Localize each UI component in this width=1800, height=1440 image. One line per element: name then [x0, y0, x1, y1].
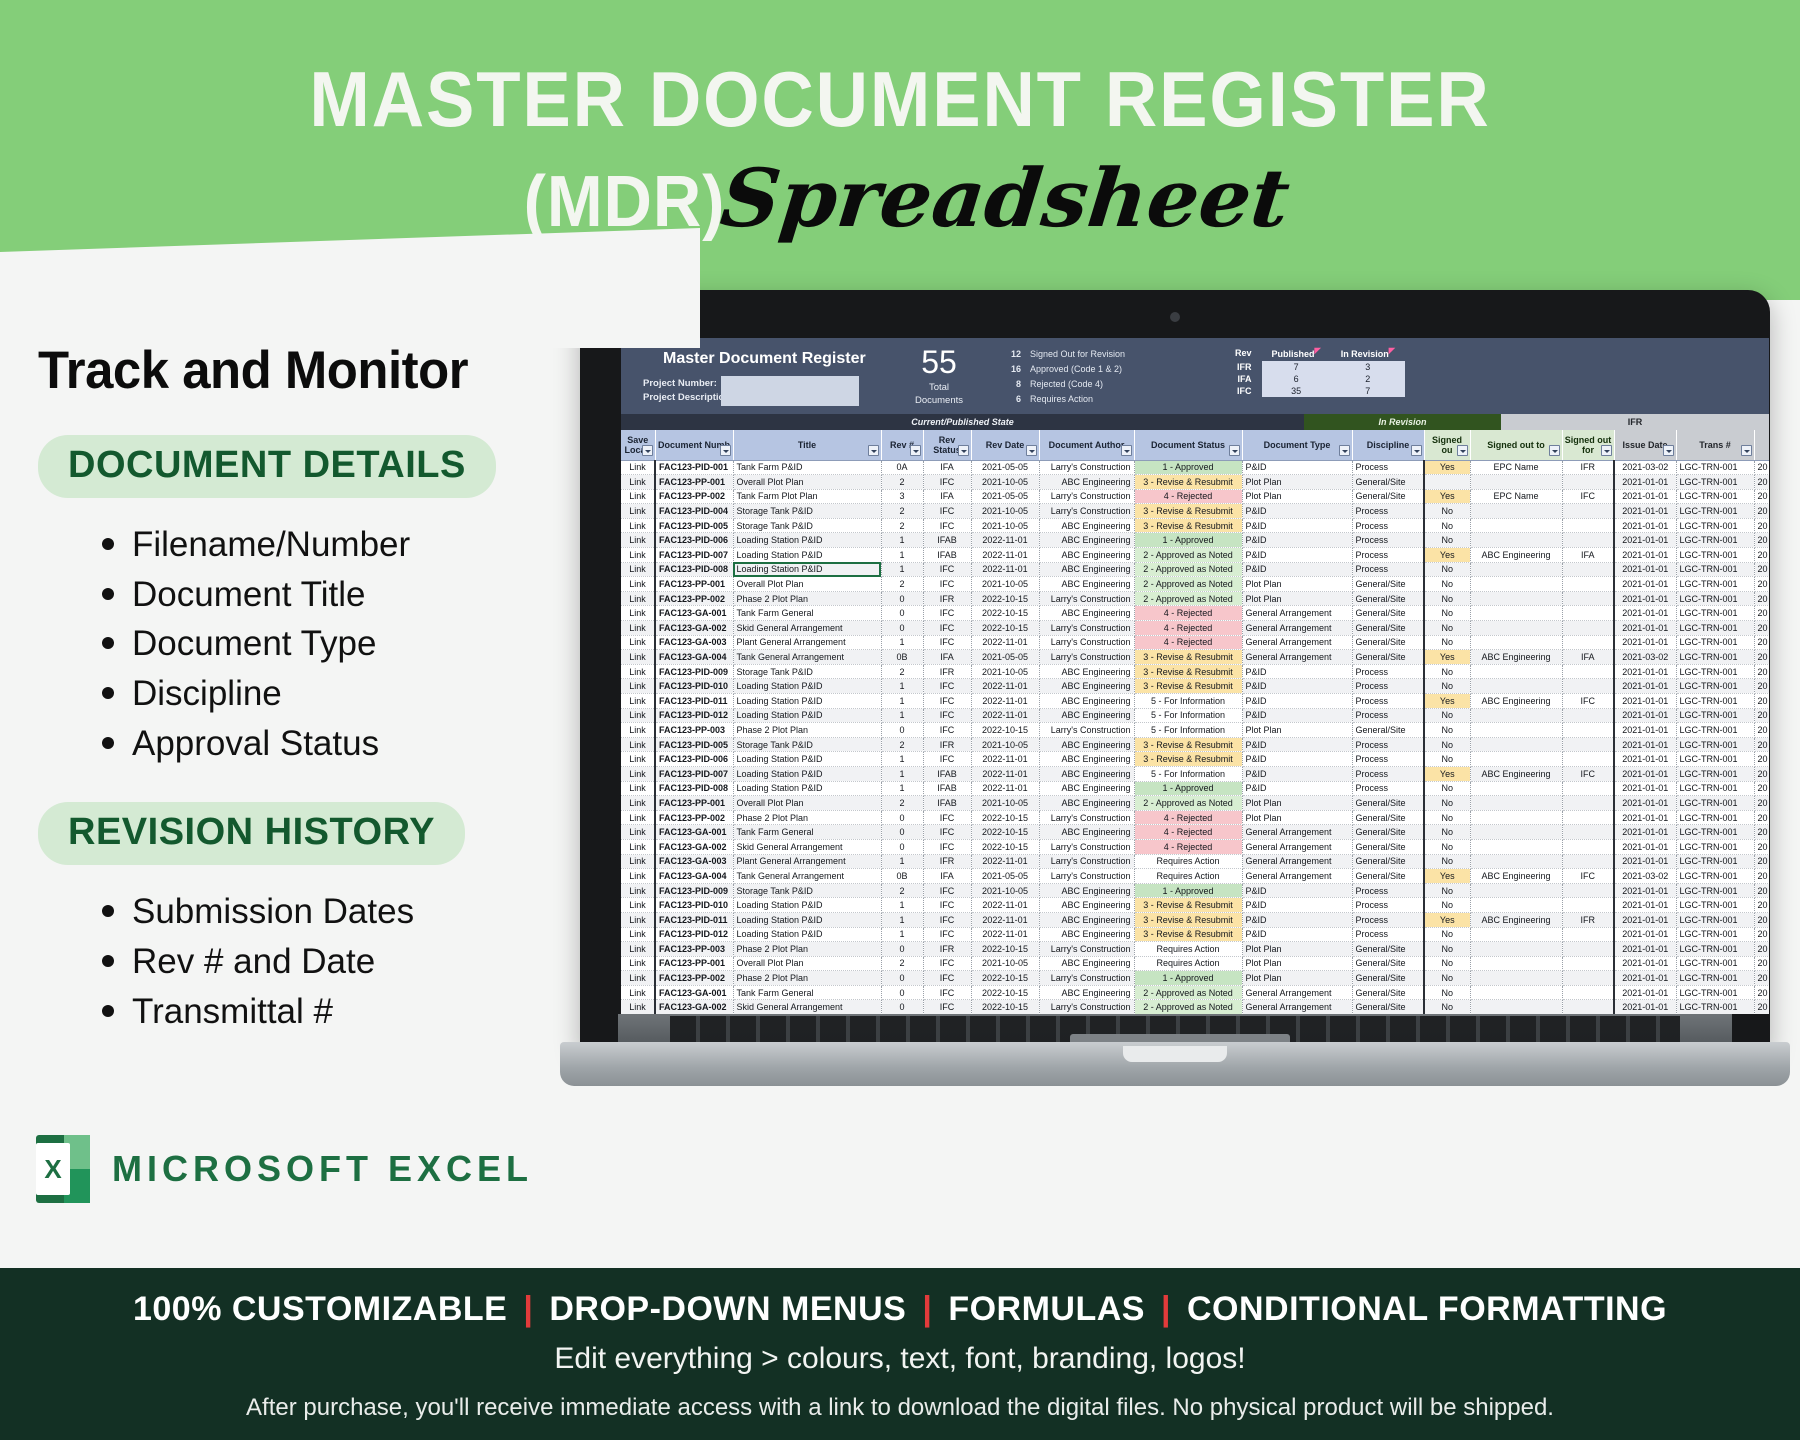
cell-overflow[interactable]: 20 [1754, 606, 1769, 621]
cell-document-status[interactable]: 3 - Revise & Resubmit [1134, 650, 1242, 665]
cell-trans-number[interactable]: LGC-TRN-001 [1676, 927, 1754, 942]
cell-rev-number[interactable]: 1 [881, 679, 923, 694]
cell-title[interactable]: Plant General Arrangement [733, 635, 881, 650]
cell-rev-number[interactable]: 0 [881, 591, 923, 606]
cell-signed-out-for[interactable] [1562, 927, 1614, 942]
cell-rev-date[interactable]: 2022-11-01 [971, 766, 1039, 781]
cell-issue-date[interactable]: 2021-01-01 [1614, 825, 1676, 840]
cell-document-author[interactable]: Larry's Construction [1039, 635, 1134, 650]
cell-signed-out-to[interactable] [1470, 591, 1562, 606]
cell-title[interactable]: Loading Station P&ID [733, 708, 881, 723]
cell-document-author[interactable]: ABC Engineering [1039, 927, 1134, 942]
table-row[interactable]: LinkFAC123-GA-002Skid General Arrangemen… [621, 839, 1769, 854]
cell-discipline[interactable]: Process [1352, 737, 1424, 752]
cell-signed-out[interactable]: No [1424, 679, 1470, 694]
cell-rev-status[interactable]: IFR [923, 854, 971, 869]
cell-overflow[interactable]: 20 [1754, 694, 1769, 709]
cell-rev-status[interactable]: IFC [923, 956, 971, 971]
cell-document-type[interactable]: P&ID [1242, 518, 1352, 533]
cell-trans-number[interactable]: LGC-TRN-001 [1676, 898, 1754, 913]
cell-signed-out-to[interactable] [1470, 796, 1562, 811]
table-row[interactable]: LinkFAC123-PP-001Overall Plot Plan2IFC20… [621, 577, 1769, 592]
cell-rev-date[interactable]: 2022-11-01 [971, 708, 1039, 723]
cell-signed-out-for[interactable] [1562, 621, 1614, 636]
cell-signed-out-to[interactable] [1470, 475, 1562, 490]
cell-document-status[interactable]: 4 - Rejected [1134, 810, 1242, 825]
cell-overflow[interactable]: 20 [1754, 562, 1769, 577]
cell-rev-status[interactable]: IFR [923, 591, 971, 606]
cell-rev-date[interactable]: 2022-10-15 [971, 825, 1039, 840]
cell-discipline[interactable]: General/Site [1352, 971, 1424, 986]
cell-trans-number[interactable]: LGC-TRN-001 [1676, 635, 1754, 650]
cell-document-author[interactable]: ABC Engineering [1039, 533, 1134, 548]
cell-issue-date[interactable]: 2021-01-01 [1614, 621, 1676, 636]
cell-discipline[interactable]: General/Site [1352, 591, 1424, 606]
cell-signed-out-for[interactable] [1562, 533, 1614, 548]
document-register-table[interactable]: Save Locati Document Numb Title Rev # Re… [621, 430, 1769, 1014]
cell-signed-out-to[interactable] [1470, 562, 1562, 577]
cell-document-type[interactable]: P&ID [1242, 664, 1352, 679]
cell-trans-number[interactable]: LGC-TRN-001 [1676, 825, 1754, 840]
cell-signed-out[interactable]: No [1424, 971, 1470, 986]
cell-document-type[interactable]: General Arrangement [1242, 650, 1352, 665]
cell-rev-number[interactable]: 0 [881, 942, 923, 957]
cell-rev-status[interactable]: IFA [923, 460, 971, 475]
cell-save-location[interactable]: Link [621, 971, 655, 986]
cell-rev-number[interactable]: 2 [881, 518, 923, 533]
cell-issue-date[interactable]: 2021-01-01 [1614, 548, 1676, 563]
cell-document-type[interactable]: P&ID [1242, 927, 1352, 942]
cell-document-status[interactable]: 4 - Rejected [1134, 635, 1242, 650]
cell-save-location[interactable]: Link [621, 664, 655, 679]
cell-signed-out[interactable]: No [1424, 839, 1470, 854]
cell-rev-date[interactable]: 2022-10-15 [971, 606, 1039, 621]
cell-discipline[interactable]: Process [1352, 927, 1424, 942]
table-row[interactable]: LinkFAC123-PP-003Phase 2 Plot Plan0IFR20… [621, 942, 1769, 957]
cell-rev-number[interactable]: 1 [881, 766, 923, 781]
cell-rev-status[interactable]: IFC [923, 912, 971, 927]
cell-signed-out-for[interactable] [1562, 606, 1614, 621]
cell-save-location[interactable]: Link [621, 927, 655, 942]
cell-rev-date[interactable]: 2021-05-05 [971, 460, 1039, 475]
table-row[interactable]: LinkFAC123-GA-004Tank General Arrangemen… [621, 869, 1769, 884]
cell-document-status[interactable]: 2 - Approved as Noted [1134, 548, 1242, 563]
cell-signed-out-to[interactable] [1470, 635, 1562, 650]
cell-overflow[interactable]: 20 [1754, 518, 1769, 533]
cell-document-author[interactable]: ABC Engineering [1039, 985, 1134, 1000]
cell-title[interactable]: Loading Station P&ID [733, 679, 881, 694]
cell-document-status[interactable]: 3 - Revise & Resubmit [1134, 927, 1242, 942]
cell-document-author[interactable]: Larry's Construction [1039, 942, 1134, 957]
cell-discipline[interactable]: General/Site [1352, 942, 1424, 957]
cell-document-status[interactable]: 2 - Approved as Noted [1134, 591, 1242, 606]
cell-signed-out-for[interactable]: IFR [1562, 460, 1614, 475]
cell-overflow[interactable]: 20 [1754, 621, 1769, 636]
filter-dropdown-icon[interactable] [720, 445, 731, 456]
cell-document-author[interactable]: Larry's Construction [1039, 839, 1134, 854]
cell-document-status[interactable]: 2 - Approved as Noted [1134, 1000, 1242, 1014]
cell-rev-date[interactable]: 2022-10-15 [971, 942, 1039, 957]
cell-title[interactable]: Tank General Arrangement [733, 869, 881, 884]
cell-rev-number[interactable]: 0 [881, 839, 923, 854]
cell-discipline[interactable]: General/Site [1352, 985, 1424, 1000]
cell-document-author[interactable]: ABC Engineering [1039, 475, 1134, 490]
cell-rev-date[interactable]: 2022-11-01 [971, 898, 1039, 913]
cell-signed-out[interactable]: No [1424, 898, 1470, 913]
cell-overflow[interactable]: 20 [1754, 912, 1769, 927]
cell-document-status[interactable]: 3 - Revise & Resubmit [1134, 737, 1242, 752]
cell-trans-number[interactable]: LGC-TRN-001 [1676, 781, 1754, 796]
cell-issue-date[interactable]: 2021-01-01 [1614, 533, 1676, 548]
cell-rev-date[interactable]: 2022-11-01 [971, 912, 1039, 927]
cell-rev-status[interactable]: IFR [923, 737, 971, 752]
column-header-rev-date[interactable]: Rev Date [971, 430, 1039, 460]
cell-document-author[interactable]: ABC Engineering [1039, 708, 1134, 723]
cell-overflow[interactable]: 20 [1754, 664, 1769, 679]
table-row[interactable]: LinkFAC123-PID-008Loading Station P&ID1I… [621, 562, 1769, 577]
cell-signed-out-to[interactable] [1470, 723, 1562, 738]
cell-document-author[interactable]: ABC Engineering [1039, 737, 1134, 752]
table-row[interactable]: LinkFAC123-PP-001Overall Plot Plan2IFC20… [621, 475, 1769, 490]
cell-save-location[interactable]: Link [621, 577, 655, 592]
cell-trans-number[interactable]: LGC-TRN-001 [1676, 723, 1754, 738]
cell-overflow[interactable]: 20 [1754, 708, 1769, 723]
cell-discipline[interactable]: General/Site [1352, 825, 1424, 840]
cell-save-location[interactable]: Link [621, 810, 655, 825]
cell-trans-number[interactable]: LGC-TRN-001 [1676, 621, 1754, 636]
cell-signed-out-to[interactable] [1470, 883, 1562, 898]
cell-discipline[interactable]: Process [1352, 781, 1424, 796]
cell-document-status[interactable]: 2 - Approved as Noted [1134, 577, 1242, 592]
cell-save-location[interactable]: Link [621, 766, 655, 781]
cell-rev-status[interactable]: IFC [923, 635, 971, 650]
cell-trans-number[interactable]: LGC-TRN-001 [1676, 591, 1754, 606]
cell-document-type[interactable]: Plot Plan [1242, 489, 1352, 504]
cell-rev-number[interactable]: 1 [881, 854, 923, 869]
cell-trans-number[interactable]: LGC-TRN-001 [1676, 650, 1754, 665]
cell-discipline[interactable]: General/Site [1352, 650, 1424, 665]
cell-trans-number[interactable]: LGC-TRN-001 [1676, 854, 1754, 869]
cell-signed-out-for[interactable] [1562, 971, 1614, 986]
filter-dropdown-icon[interactable] [1026, 445, 1037, 456]
cell-document-status[interactable]: 5 - For Information [1134, 723, 1242, 738]
cell-save-location[interactable]: Link [621, 708, 655, 723]
cell-document-number[interactable]: FAC123-PID-010 [655, 898, 733, 913]
cell-signed-out-for[interactable] [1562, 956, 1614, 971]
cell-rev-status[interactable]: IFC [923, 839, 971, 854]
cell-document-author[interactable]: Larry's Construction [1039, 504, 1134, 519]
filter-dropdown-icon[interactable] [1663, 445, 1674, 456]
cell-signed-out-for[interactable]: IFR [1562, 912, 1614, 927]
cell-trans-number[interactable]: LGC-TRN-001 [1676, 548, 1754, 563]
cell-discipline[interactable]: Process [1352, 912, 1424, 927]
cell-signed-out[interactable]: No [1424, 796, 1470, 811]
cell-discipline[interactable]: General/Site [1352, 577, 1424, 592]
cell-document-status[interactable]: 4 - Rejected [1134, 825, 1242, 840]
cell-rev-number[interactable]: 0 [881, 723, 923, 738]
cell-trans-number[interactable]: LGC-TRN-001 [1676, 985, 1754, 1000]
cell-issue-date[interactable]: 2021-03-02 [1614, 869, 1676, 884]
column-header-title[interactable]: Title [733, 430, 881, 460]
cell-document-status[interactable]: 2 - Approved as Noted [1134, 562, 1242, 577]
table-body[interactable]: LinkFAC123-PID-001Tank Farm P&ID0AIFA202… [621, 460, 1769, 1014]
cell-issue-date[interactable]: 2021-01-01 [1614, 971, 1676, 986]
cell-signed-out-to[interactable]: ABC Engineering [1470, 869, 1562, 884]
cell-document-status[interactable]: 1 - Approved [1134, 883, 1242, 898]
cell-signed-out-to[interactable] [1470, 606, 1562, 621]
table-row[interactable]: LinkFAC123-PID-009Storage Tank P&ID2IFC2… [621, 883, 1769, 898]
cell-rev-date[interactable]: 2021-10-05 [971, 956, 1039, 971]
cell-discipline[interactable]: Process [1352, 708, 1424, 723]
column-header-document-type[interactable]: Document Type [1242, 430, 1352, 460]
cell-discipline[interactable]: Process [1352, 898, 1424, 913]
cell-signed-out[interactable]: No [1424, 854, 1470, 869]
cell-document-number[interactable]: FAC123-PP-002 [655, 489, 733, 504]
cell-rev-number[interactable]: 2 [881, 664, 923, 679]
cell-rev-status[interactable]: IFAB [923, 796, 971, 811]
cell-document-type[interactable]: P&ID [1242, 460, 1352, 475]
cell-signed-out-for[interactable] [1562, 942, 1614, 957]
cell-overflow[interactable]: 20 [1754, 971, 1769, 986]
cell-document-type[interactable]: Plot Plan [1242, 723, 1352, 738]
cell-issue-date[interactable]: 2021-01-01 [1614, 956, 1676, 971]
cell-rev-status[interactable]: IFA [923, 869, 971, 884]
cell-issue-date[interactable]: 2021-01-01 [1614, 577, 1676, 592]
cell-overflow[interactable]: 20 [1754, 839, 1769, 854]
cell-signed-out-to[interactable]: ABC Engineering [1470, 650, 1562, 665]
cell-rev-date[interactable]: 2022-11-01 [971, 562, 1039, 577]
cell-rev-status[interactable]: IFC [923, 504, 971, 519]
cell-document-type[interactable]: P&ID [1242, 752, 1352, 767]
cell-document-number[interactable]: FAC123-PID-009 [655, 664, 733, 679]
cell-signed-out-to[interactable] [1470, 971, 1562, 986]
cell-overflow[interactable]: 20 [1754, 650, 1769, 665]
cell-discipline[interactable]: General/Site [1352, 635, 1424, 650]
filter-dropdown-icon[interactable] [1601, 445, 1612, 456]
cell-document-status[interactable]: 4 - Rejected [1134, 621, 1242, 636]
cell-rev-status[interactable]: IFC [923, 475, 971, 490]
cell-signed-out[interactable]: Yes [1424, 460, 1470, 475]
cell-overflow[interactable]: 20 [1754, 635, 1769, 650]
cell-document-status[interactable]: 2 - Approved as Noted [1134, 985, 1242, 1000]
table-row[interactable]: LinkFAC123-PP-002Phase 2 Plot Plan0IFR20… [621, 591, 1769, 606]
cell-rev-status[interactable]: IFC [923, 825, 971, 840]
cell-overflow[interactable]: 20 [1754, 985, 1769, 1000]
cell-signed-out-for[interactable] [1562, 810, 1614, 825]
table-row[interactable]: LinkFAC123-PID-009Storage Tank P&ID2IFR2… [621, 664, 1769, 679]
cell-document-author[interactable]: ABC Engineering [1039, 577, 1134, 592]
cell-issue-date[interactable]: 2021-01-01 [1614, 737, 1676, 752]
cell-document-status[interactable]: 3 - Revise & Resubmit [1134, 664, 1242, 679]
cell-rev-date[interactable]: 2022-10-15 [971, 985, 1039, 1000]
cell-discipline[interactable]: General/Site [1352, 869, 1424, 884]
cell-document-number[interactable]: FAC123-GA-002 [655, 839, 733, 854]
cell-save-location[interactable]: Link [621, 737, 655, 752]
cell-rev-status[interactable]: IFC [923, 621, 971, 636]
cell-signed-out-to[interactable] [1470, 927, 1562, 942]
cell-document-author[interactable]: Larry's Construction [1039, 971, 1134, 986]
cell-signed-out[interactable]: No [1424, 518, 1470, 533]
cell-rev-date[interactable]: 2022-11-01 [971, 679, 1039, 694]
cell-signed-out[interactable]: Yes [1424, 548, 1470, 563]
cell-rev-date[interactable]: 2022-11-01 [971, 927, 1039, 942]
cell-signed-out-to[interactable] [1470, 781, 1562, 796]
cell-issue-date[interactable]: 2021-01-01 [1614, 752, 1676, 767]
cell-document-author[interactable]: Larry's Construction [1039, 869, 1134, 884]
cell-rev-number[interactable]: 1 [881, 635, 923, 650]
cell-issue-date[interactable]: 2021-01-01 [1614, 591, 1676, 606]
column-header-issue-date[interactable]: Issue Date [1614, 430, 1676, 460]
cell-rev-number[interactable]: 0B [881, 869, 923, 884]
cell-document-number[interactable]: FAC123-GA-002 [655, 1000, 733, 1014]
cell-signed-out-to[interactable]: EPC Name [1470, 460, 1562, 475]
cell-issue-date[interactable]: 2021-01-01 [1614, 504, 1676, 519]
cell-document-number[interactable]: FAC123-PID-006 [655, 533, 733, 548]
cell-save-location[interactable]: Link [621, 460, 655, 475]
cell-overflow[interactable]: 20 [1754, 942, 1769, 957]
table-row[interactable]: LinkFAC123-PID-012Loading Station P&ID1I… [621, 708, 1769, 723]
cell-signed-out[interactable]: No [1424, 562, 1470, 577]
cell-document-type[interactable]: Plot Plan [1242, 810, 1352, 825]
cell-document-status[interactable]: 4 - Rejected [1134, 489, 1242, 504]
cell-rev-status[interactable]: IFC [923, 985, 971, 1000]
cell-document-status[interactable]: 1 - Approved [1134, 460, 1242, 475]
cell-document-number[interactable]: FAC123-PID-009 [655, 883, 733, 898]
cell-title[interactable]: Loading Station P&ID [733, 562, 881, 577]
table-row[interactable]: LinkFAC123-PID-012Loading Station P&ID1I… [621, 927, 1769, 942]
cell-save-location[interactable]: Link [621, 548, 655, 563]
cell-overflow[interactable]: 20 [1754, 533, 1769, 548]
cell-title[interactable]: Phase 2 Plot Plan [733, 810, 881, 825]
cell-issue-date[interactable]: 2021-01-01 [1614, 489, 1676, 504]
cell-document-type[interactable]: General Arrangement [1242, 1000, 1352, 1014]
cell-rev-number[interactable]: 2 [881, 504, 923, 519]
cell-save-location[interactable]: Link [621, 635, 655, 650]
cell-document-type[interactable]: Plot Plan [1242, 971, 1352, 986]
table-row[interactable]: LinkFAC123-PP-003Phase 2 Plot Plan0IFC20… [621, 723, 1769, 738]
cell-document-author[interactable]: Larry's Construction [1039, 723, 1134, 738]
cell-signed-out-for[interactable] [1562, 708, 1614, 723]
cell-issue-date[interactable]: 2021-03-02 [1614, 460, 1676, 475]
cell-document-number[interactable]: FAC123-PP-002 [655, 971, 733, 986]
cell-signed-out[interactable]: No [1424, 883, 1470, 898]
cell-overflow[interactable]: 20 [1754, 504, 1769, 519]
column-header-signed-out-to[interactable]: Signed out to [1470, 430, 1562, 460]
cell-trans-number[interactable]: LGC-TRN-001 [1676, 460, 1754, 475]
cell-signed-out-for[interactable] [1562, 781, 1614, 796]
cell-rev-number[interactable]: 2 [881, 577, 923, 592]
cell-rev-status[interactable]: IFR [923, 664, 971, 679]
cell-rev-date[interactable]: 2021-10-05 [971, 664, 1039, 679]
cell-issue-date[interactable]: 2021-01-01 [1614, 635, 1676, 650]
cell-save-location[interactable]: Link [621, 883, 655, 898]
cell-issue-date[interactable]: 2021-01-01 [1614, 1000, 1676, 1014]
cell-title[interactable]: Overall Plot Plan [733, 475, 881, 490]
cell-signed-out[interactable]: No [1424, 577, 1470, 592]
cell-document-number[interactable]: FAC123-PP-002 [655, 591, 733, 606]
column-header-signed-out[interactable]: Signed ou [1424, 430, 1470, 460]
cell-document-author[interactable]: ABC Engineering [1039, 796, 1134, 811]
cell-discipline[interactable]: Process [1352, 664, 1424, 679]
cell-signed-out[interactable]: No [1424, 504, 1470, 519]
cell-signed-out-to[interactable] [1470, 533, 1562, 548]
cell-issue-date[interactable]: 2021-01-01 [1614, 708, 1676, 723]
cell-rev-number[interactable]: 0 [881, 1000, 923, 1014]
cell-issue-date[interactable]: 2021-01-01 [1614, 475, 1676, 490]
cell-signed-out-to[interactable] [1470, 898, 1562, 913]
cell-document-number[interactable]: FAC123-PP-003 [655, 942, 733, 957]
cell-rev-status[interactable]: IFA [923, 650, 971, 665]
cell-rev-number[interactable]: 1 [881, 912, 923, 927]
cell-document-status[interactable]: 1 - Approved [1134, 533, 1242, 548]
cell-signed-out-for[interactable] [1562, 635, 1614, 650]
cell-title[interactable]: Phase 2 Plot Plan [733, 971, 881, 986]
cell-rev-status[interactable]: IFAB [923, 781, 971, 796]
cell-save-location[interactable]: Link [621, 504, 655, 519]
cell-signed-out-for[interactable] [1562, 752, 1614, 767]
cell-signed-out[interactable] [1424, 475, 1470, 490]
table-row[interactable]: LinkFAC123-GA-002Skid General Arrangemen… [621, 621, 1769, 636]
cell-document-status[interactable]: 3 - Revise & Resubmit [1134, 475, 1242, 490]
cell-document-type[interactable]: General Arrangement [1242, 825, 1352, 840]
table-row[interactable]: LinkFAC123-PID-007Loading Station P&ID1I… [621, 548, 1769, 563]
cell-document-type[interactable]: P&ID [1242, 548, 1352, 563]
cell-rev-date[interactable]: 2022-11-01 [971, 635, 1039, 650]
cell-issue-date[interactable]: 2021-01-01 [1614, 796, 1676, 811]
cell-rev-number[interactable]: 1 [881, 548, 923, 563]
cell-save-location[interactable]: Link [621, 650, 655, 665]
cell-document-author[interactable]: ABC Engineering [1039, 752, 1134, 767]
cell-discipline[interactable]: General/Site [1352, 796, 1424, 811]
cell-signed-out-to[interactable] [1470, 504, 1562, 519]
cell-save-location[interactable]: Link [621, 489, 655, 504]
cell-document-type[interactable]: P&ID [1242, 562, 1352, 577]
cell-trans-number[interactable]: LGC-TRN-001 [1676, 883, 1754, 898]
cell-issue-date[interactable]: 2021-01-01 [1614, 839, 1676, 854]
cell-document-author[interactable]: Larry's Construction [1039, 1000, 1134, 1014]
cell-signed-out-for[interactable] [1562, 562, 1614, 577]
cell-signed-out[interactable]: No [1424, 781, 1470, 796]
cell-signed-out-to[interactable]: ABC Engineering [1470, 766, 1562, 781]
cell-document-type[interactable]: General Arrangement [1242, 985, 1352, 1000]
cell-trans-number[interactable]: LGC-TRN-001 [1676, 562, 1754, 577]
cell-issue-date[interactable]: 2021-01-01 [1614, 985, 1676, 1000]
cell-signed-out-to[interactable] [1470, 810, 1562, 825]
cell-rev-number[interactable]: 0A [881, 460, 923, 475]
cell-overflow[interactable]: 20 [1754, 489, 1769, 504]
table-row[interactable]: LinkFAC123-PP-002Phase 2 Plot Plan0IFC20… [621, 971, 1769, 986]
cell-document-author[interactable]: ABC Engineering [1039, 883, 1134, 898]
cell-rev-number[interactable]: 2 [881, 796, 923, 811]
cell-discipline[interactable]: Process [1352, 533, 1424, 548]
cell-document-author[interactable]: ABC Engineering [1039, 694, 1134, 709]
cell-document-number[interactable]: FAC123-PID-012 [655, 708, 733, 723]
cell-rev-status[interactable]: IFC [923, 606, 971, 621]
cell-overflow[interactable]: 20 [1754, 723, 1769, 738]
cell-document-number[interactable]: FAC123-PID-008 [655, 562, 733, 577]
cell-signed-out-to[interactable] [1470, 1000, 1562, 1014]
cell-trans-number[interactable]: LGC-TRN-001 [1676, 518, 1754, 533]
cell-title[interactable]: Tank Farm Plot Plan [733, 489, 881, 504]
cell-rev-status[interactable]: IFC [923, 562, 971, 577]
cell-save-location[interactable]: Link [621, 912, 655, 927]
table-row[interactable]: LinkFAC123-GA-004Tank General Arrangemen… [621, 650, 1769, 665]
cell-save-location[interactable]: Link [621, 781, 655, 796]
cell-rev-date[interactable]: 2021-10-05 [971, 504, 1039, 519]
table-row[interactable]: LinkFAC123-PP-002Tank Farm Plot Plan3IFA… [621, 489, 1769, 504]
cell-rev-status[interactable]: IFC [923, 883, 971, 898]
cell-document-status[interactable]: 2 - Approved as Noted [1134, 796, 1242, 811]
